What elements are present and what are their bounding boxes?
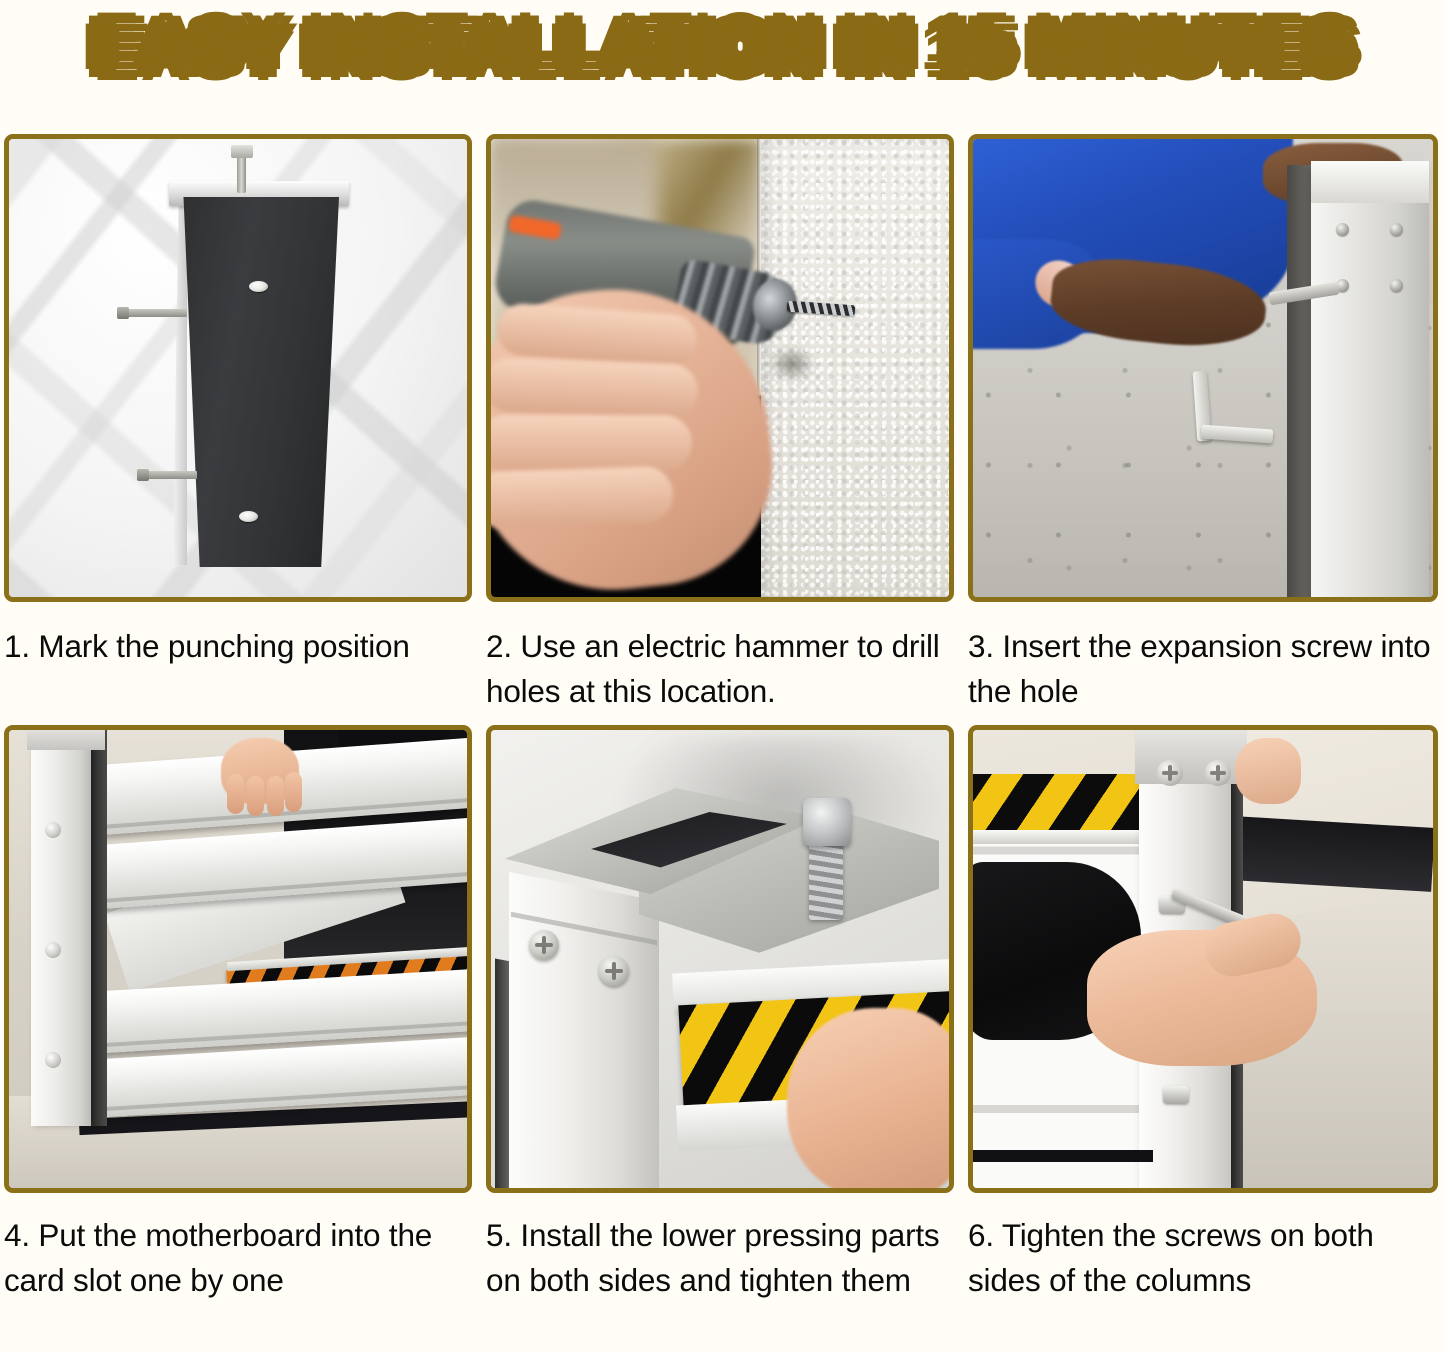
- step-card-4: 4. Put the motherboard into the card slo…: [4, 725, 476, 1313]
- step-caption-4: 4. Put the motherboard into the card slo…: [4, 1213, 474, 1313]
- finger: [227, 774, 244, 814]
- step-caption-1: 1. Mark the punching position: [4, 624, 474, 724]
- card-slot-column: [31, 730, 91, 1126]
- screw-slot-vertical: [1168, 765, 1172, 781]
- hex-bolt-thread: [809, 834, 843, 920]
- column-top-bracket: [1311, 161, 1429, 203]
- finger: [491, 415, 692, 471]
- step-photo-2: [491, 139, 949, 597]
- step-card-3: 3. Insert the expansion screw into the h…: [968, 134, 1441, 724]
- screw-slot-vertical: [612, 962, 616, 980]
- white-column-post: [1311, 167, 1429, 597]
- column-top-cap: [27, 730, 105, 750]
- phillips-screw: [599, 956, 629, 986]
- expansion-bolt-upper: [119, 309, 187, 317]
- column-side-bolt-lower: [1163, 1086, 1189, 1104]
- phillips-screw: [1157, 760, 1183, 786]
- column-fixing-pin: [45, 822, 61, 838]
- hazard-board-edge: [973, 830, 1141, 844]
- step-photo-4: [9, 730, 467, 1188]
- expansion-bolt-upper-head: [117, 307, 129, 319]
- step-image-frame-4: [4, 725, 472, 1193]
- screw-slot-vertical: [542, 936, 546, 954]
- steps-grid: 1. Mark the punching position: [4, 134, 1441, 1313]
- column-fixing-pin: [45, 1052, 61, 1068]
- second-hand-top: [1235, 738, 1301, 804]
- step-caption-2: 2. Use an electric hammer to drill holes…: [486, 624, 956, 724]
- step-image-frame-6: [968, 725, 1438, 1193]
- step-photo-6: [973, 730, 1433, 1188]
- installer-hand: [787, 1008, 949, 1188]
- finger: [247, 776, 264, 816]
- step-card-1: 1. Mark the punching position: [4, 134, 476, 724]
- step-image-frame-3: [968, 134, 1438, 602]
- finger: [285, 772, 302, 812]
- column-screw: [1336, 223, 1349, 236]
- finger: [267, 776, 284, 816]
- page-title: EASY INSTALLATION IN 15 MINUTES: [92, 13, 1352, 79]
- column-shadow-side: [1287, 165, 1311, 597]
- drilling-dust: [769, 347, 815, 381]
- header-banner: EASY INSTALLATION IN 15 MINUTES: [0, 0, 1445, 92]
- top-nut: [231, 145, 253, 158]
- column-fixing-pin: [45, 942, 61, 958]
- mounting-hole-upper: [249, 281, 268, 292]
- dark-tapered-column: [177, 197, 339, 567]
- step-card-2: 2. Use an electric hammer to drill holes…: [486, 134, 958, 724]
- column-screw: [1390, 279, 1403, 292]
- step-caption-5: 5. Install the lower pressing parts on b…: [486, 1213, 956, 1313]
- phillips-screw: [1205, 760, 1231, 786]
- step-image-frame-1: [4, 134, 472, 602]
- floor-shadow-line: [973, 1150, 1153, 1162]
- finger: [491, 357, 699, 418]
- column-shadow-side: [91, 730, 107, 1126]
- step-image-frame-5: [486, 725, 954, 1193]
- hex-socket-bolt-head: [803, 798, 851, 846]
- installation-guide-page: EASY INSTALLATION IN 15 MINUTES: [0, 0, 1445, 1352]
- step-caption-6: 6. Tighten the screws on both sides of t…: [968, 1213, 1438, 1313]
- screw-slot-vertical: [1216, 765, 1220, 781]
- finger: [491, 466, 674, 529]
- step-caption-3: 3. Insert the expansion screw into the h…: [968, 624, 1438, 724]
- step-image-frame-2: [486, 134, 954, 602]
- step-photo-3: [973, 139, 1433, 597]
- expansion-bolt-lower-head: [137, 469, 149, 481]
- phillips-screw: [529, 930, 559, 960]
- step-card-5: 5. Install the lower pressing parts on b…: [486, 725, 958, 1313]
- step-photo-1: [9, 139, 467, 597]
- hazard-stripe-yellow-black: [973, 774, 1141, 832]
- column-screw: [1390, 223, 1403, 236]
- step-photo-5: [491, 730, 949, 1188]
- mounting-hole-lower: [239, 511, 258, 522]
- step-card-6: 6. Tighten the screws on both sides of t…: [968, 725, 1441, 1313]
